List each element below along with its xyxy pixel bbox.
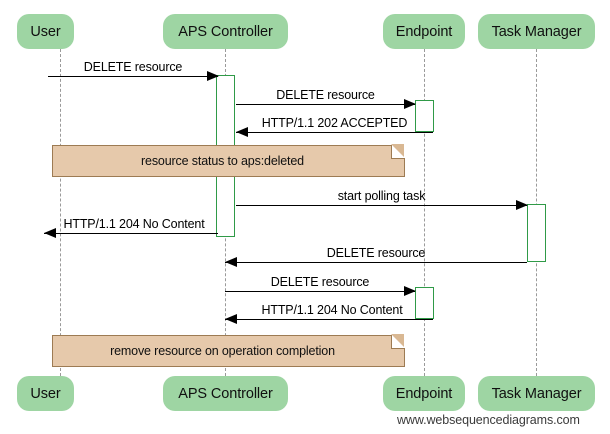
message-label-3: HTTP/1.1 202 ACCEPTED — [236, 116, 433, 130]
actor-head-user[interactable]: User — [17, 14, 74, 49]
activation-bar-task-manager — [527, 204, 546, 262]
actor-head-aps-controller-label: APS Controller — [178, 24, 273, 40]
footer-credit: www.websequencediagrams.com — [397, 413, 580, 427]
message-line-8 — [225, 319, 433, 320]
message-line-5 — [44, 233, 218, 234]
message-line-3 — [236, 132, 433, 133]
note-fold-corner-icon-2 — [391, 335, 405, 349]
message-label-6: DELETE resource — [225, 246, 527, 260]
actor-foot-task-manager[interactable]: Task Manager — [478, 376, 595, 411]
lifeline-endpoint — [424, 49, 425, 376]
message-label-8: HTTP/1.1 204 No Content — [231, 303, 433, 317]
note-resource-status: resource status to aps:deleted — [52, 145, 405, 177]
actor-foot-user[interactable]: User — [17, 376, 74, 411]
note-fold-corner-icon — [391, 145, 405, 159]
actor-head-user-label: User — [30, 24, 60, 40]
actor-foot-aps-controller[interactable]: APS Controller — [163, 376, 288, 411]
message-label-4: start polling task — [236, 189, 527, 203]
note-resource-status-text: resource status to aps:deleted — [141, 154, 316, 168]
message-line-4 — [236, 205, 527, 206]
message-label-2: DELETE resource — [236, 88, 415, 102]
sequence-diagram-canvas: User APS Controller Endpoint Task Manage… — [0, 0, 610, 434]
actor-head-task-manager[interactable]: Task Manager — [478, 14, 595, 49]
message-label-1: DELETE resource — [48, 60, 218, 74]
note-remove-resource-text: remove resource on operation completion — [110, 344, 347, 358]
actor-head-aps-controller[interactable]: APS Controller — [163, 14, 288, 49]
actor-foot-endpoint-label: Endpoint — [396, 386, 452, 402]
actor-head-endpoint[interactable]: Endpoint — [383, 14, 465, 49]
actor-foot-endpoint[interactable]: Endpoint — [383, 376, 465, 411]
note-remove-resource: remove resource on operation completion — [52, 335, 405, 367]
actor-foot-aps-controller-label: APS Controller — [178, 386, 273, 402]
message-line-6 — [225, 262, 527, 263]
message-label-7: DELETE resource — [225, 275, 415, 289]
actor-foot-user-label: User — [30, 386, 60, 402]
lifeline-user — [60, 49, 61, 376]
message-line-2 — [236, 104, 415, 105]
message-line-7 — [225, 291, 415, 292]
actor-head-task-manager-label: Task Manager — [492, 24, 582, 40]
message-label-5: HTTP/1.1 204 No Content — [50, 217, 218, 231]
actor-foot-task-manager-label: Task Manager — [492, 386, 582, 402]
actor-head-endpoint-label: Endpoint — [396, 24, 452, 40]
message-line-1 — [48, 76, 218, 77]
